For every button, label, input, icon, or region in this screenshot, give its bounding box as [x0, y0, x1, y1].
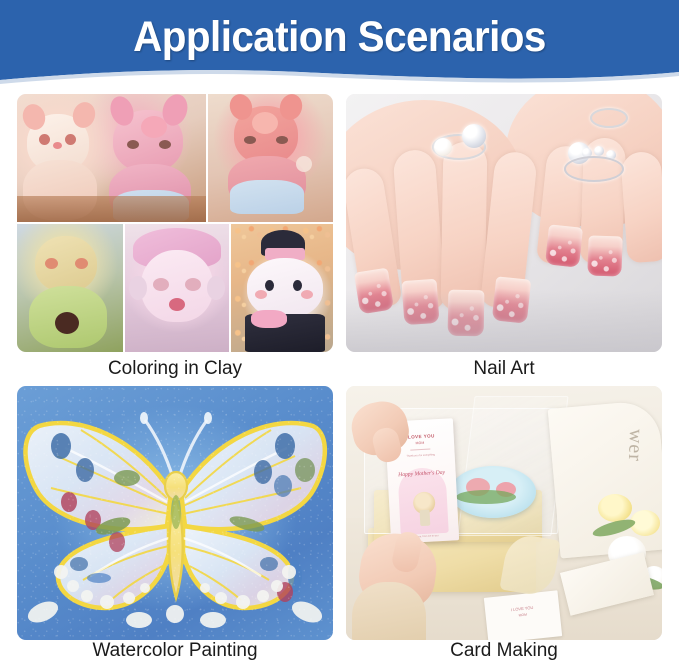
nail-glitter-1 — [545, 224, 583, 267]
panel-caption-coloring-in-clay: Coloring in Clay — [17, 358, 333, 380]
gem-icon-2 — [462, 124, 486, 148]
header-banner: Application Scenarios — [0, 0, 679, 88]
watercolor-butterfly-image — [17, 386, 333, 640]
clay-tile-1 — [17, 94, 206, 222]
panel-coloring-in-clay[interactable]: Coloring in Clay — [17, 94, 333, 352]
page-title: Application Scenarios — [20, 13, 658, 62]
flower-yellow-1 — [598, 494, 632, 522]
panel-card-making[interactable]: I LOVE YOU MOM Thank you for everything … — [346, 386, 662, 640]
scenario-grid: Coloring in Clay — [0, 88, 679, 670]
panel-caption-nail-art: Nail Art — [346, 358, 662, 380]
clay-tile-2 — [208, 94, 333, 222]
small-card-on-table: I LOVE YOU MOM — [484, 590, 562, 640]
ring-icon-1 — [590, 108, 628, 128]
pearl-icon — [434, 138, 452, 156]
panel-watercolor-painting[interactable]: Watercolor Painting — [17, 386, 333, 640]
clay-tile-4 — [125, 224, 229, 352]
clay-tile-5 — [231, 224, 333, 352]
clay-tile-3 — [17, 224, 123, 352]
butterfly-illustration — [17, 386, 333, 640]
nail-art-image — [346, 94, 662, 352]
nail-glitter-2 — [587, 235, 622, 276]
panel-nail-art[interactable]: Nail Art — [346, 94, 662, 352]
panel-caption-card-making: Card Making — [346, 640, 662, 662]
clay-collage-image — [17, 94, 333, 352]
panel-caption-watercolor-painting: Watercolor Painting — [17, 640, 333, 662]
card-making-image: I LOVE YOU MOM Thank you for everything … — [346, 386, 662, 640]
